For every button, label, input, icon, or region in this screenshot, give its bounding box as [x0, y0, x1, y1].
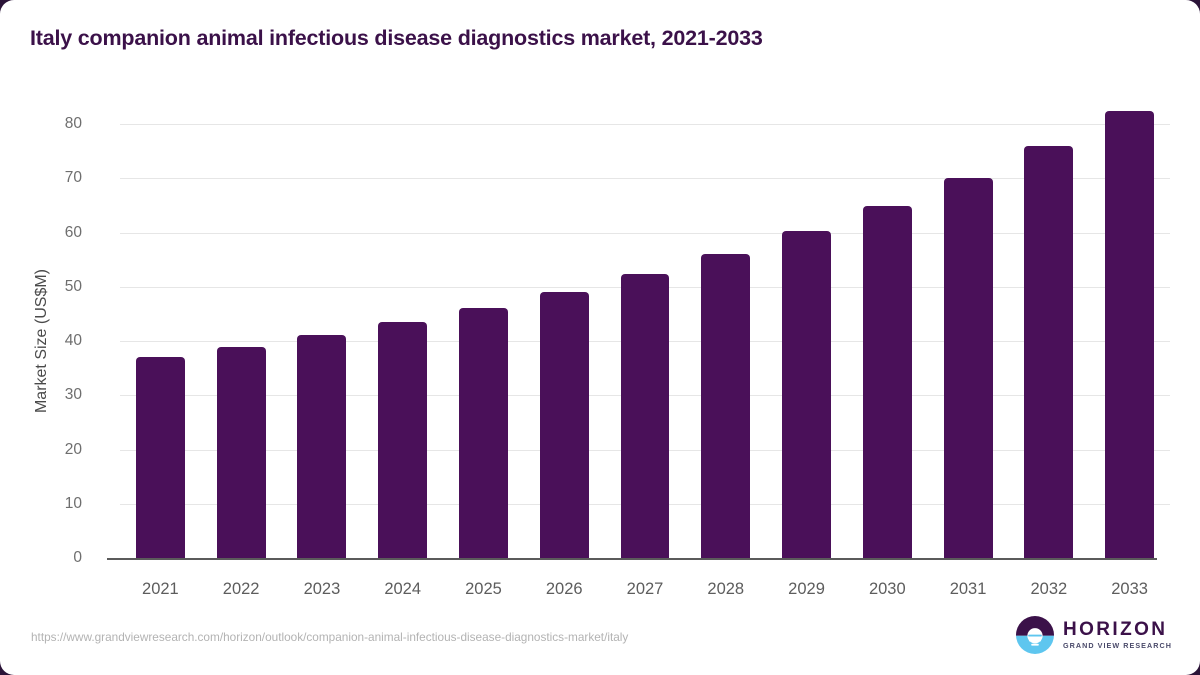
bar[interactable]: [217, 347, 266, 558]
x-axis-tick-label: 2028: [707, 580, 744, 599]
x-axis-tick-label: 2029: [788, 580, 825, 599]
bar[interactable]: [378, 322, 427, 558]
source-url[interactable]: https://www.grandviewresearch.com/horizo…: [31, 630, 628, 644]
horizon-sunrise-circle-icon: [1016, 616, 1054, 654]
bar[interactable]: [863, 206, 912, 558]
x-axis-tick-label: 2031: [950, 580, 987, 599]
y-axis-tick-label: 0: [12, 549, 82, 567]
plot-area: Market Size (US$M) 01020304050607080 202…: [120, 124, 1170, 558]
gridline: [120, 178, 1170, 179]
logo-text: HORIZON GRAND VIEW RESEARCH: [1063, 620, 1172, 649]
gridline: [120, 124, 1170, 125]
gridline: [120, 233, 1170, 234]
x-axis-tick-label: 2033: [1111, 580, 1148, 599]
x-axis-tick-label: 2030: [869, 580, 906, 599]
y-axis-tick-label: 60: [12, 224, 82, 242]
bar[interactable]: [459, 308, 508, 558]
bar[interactable]: [782, 231, 831, 558]
brand-logo[interactable]: HORIZON GRAND VIEW RESEARCH: [1016, 616, 1172, 654]
y-axis-tick-label: 20: [12, 441, 82, 459]
logo-tagline: GRAND VIEW RESEARCH: [1063, 642, 1172, 649]
x-axis-tick-label: 2023: [304, 580, 341, 599]
y-axis-tick-label: 80: [12, 115, 82, 133]
y-axis-tick-label: 70: [12, 169, 82, 187]
x-axis-tick-label: 2021: [142, 580, 179, 599]
bar[interactable]: [540, 292, 589, 558]
y-axis-tick-label: 10: [12, 495, 82, 513]
x-axis-tick-label: 2022: [223, 580, 260, 599]
logo-wordmark: HORIZON: [1063, 620, 1172, 639]
chart-canvas: Italy companion animal infectious diseas…: [0, 0, 1200, 675]
y-axis-tick-label: 50: [12, 278, 82, 296]
bar[interactable]: [1024, 146, 1073, 558]
bar[interactable]: [701, 254, 750, 558]
bar[interactable]: [136, 357, 185, 558]
x-axis-tick-label: 2026: [546, 580, 583, 599]
x-axis-tick-label: 2024: [384, 580, 421, 599]
x-axis-tick-label: 2032: [1030, 580, 1067, 599]
x-axis-tick-label: 2027: [627, 580, 664, 599]
x-axis-tick-label: 2025: [465, 580, 502, 599]
bar[interactable]: [1105, 111, 1154, 558]
page-title: Italy companion animal infectious diseas…: [30, 26, 763, 51]
y-axis-tick-label: 40: [12, 332, 82, 350]
y-axis-tick-label: 30: [12, 386, 82, 404]
bar[interactable]: [621, 274, 670, 558]
gridline: [107, 558, 1157, 560]
bar[interactable]: [297, 335, 346, 559]
bar[interactable]: [944, 178, 993, 558]
